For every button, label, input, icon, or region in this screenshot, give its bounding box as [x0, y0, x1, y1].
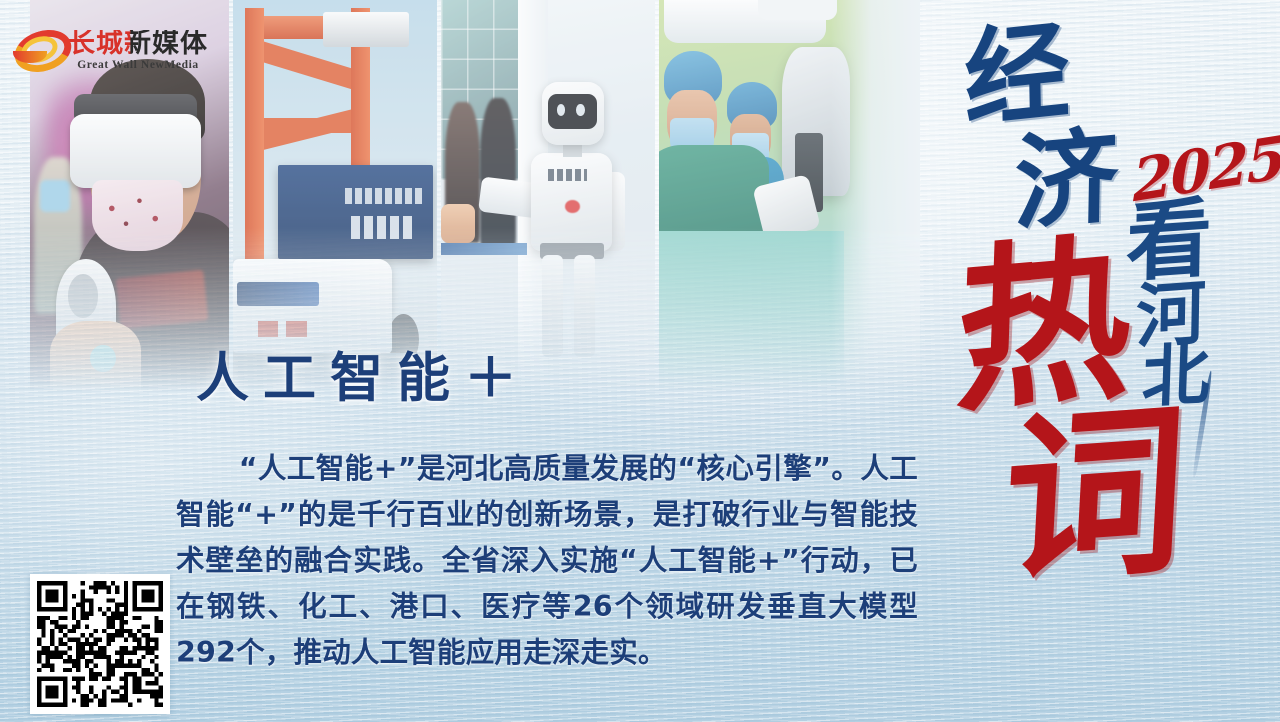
photo-robotic-surgery: 医生操作手术机器人: [659, 0, 920, 392]
page-title: 人工智能＋: [196, 336, 531, 412]
photo-port-crane-agv-truck: 港口岸桥与智能集装箱卡车: [233, 0, 437, 392]
great-wall-swirl-icon: [12, 28, 62, 68]
body-paragraph: “人工智能+”是河北高质量发展的“核心引擎”。人工智能“+”的是千行百业的创新场…: [176, 446, 918, 676]
calligraphy-char-ci: 词: [999, 397, 1190, 593]
calligraphy-block: 经 济 2025 看 河 北 热 词: [950, 0, 1280, 722]
qr-code-icon: [37, 581, 163, 707]
photo-humanoid-robot-handshake: 人形服务机器人与人握手: [441, 0, 655, 392]
qr-code[interactable]: [30, 574, 170, 714]
calligraphy-char-jing: 经: [963, 16, 1070, 133]
poster-root: 观众佩戴VR头显体验 港口岸桥与智能集装箱卡车: [0, 0, 1280, 722]
brand-name-en: Great Wall NewMedia: [68, 60, 208, 72]
brand-logo[interactable]: 长城新媒体 Great Wall NewMedia: [12, 28, 208, 72]
brand-name-cn: 长城新媒体: [68, 30, 208, 57]
